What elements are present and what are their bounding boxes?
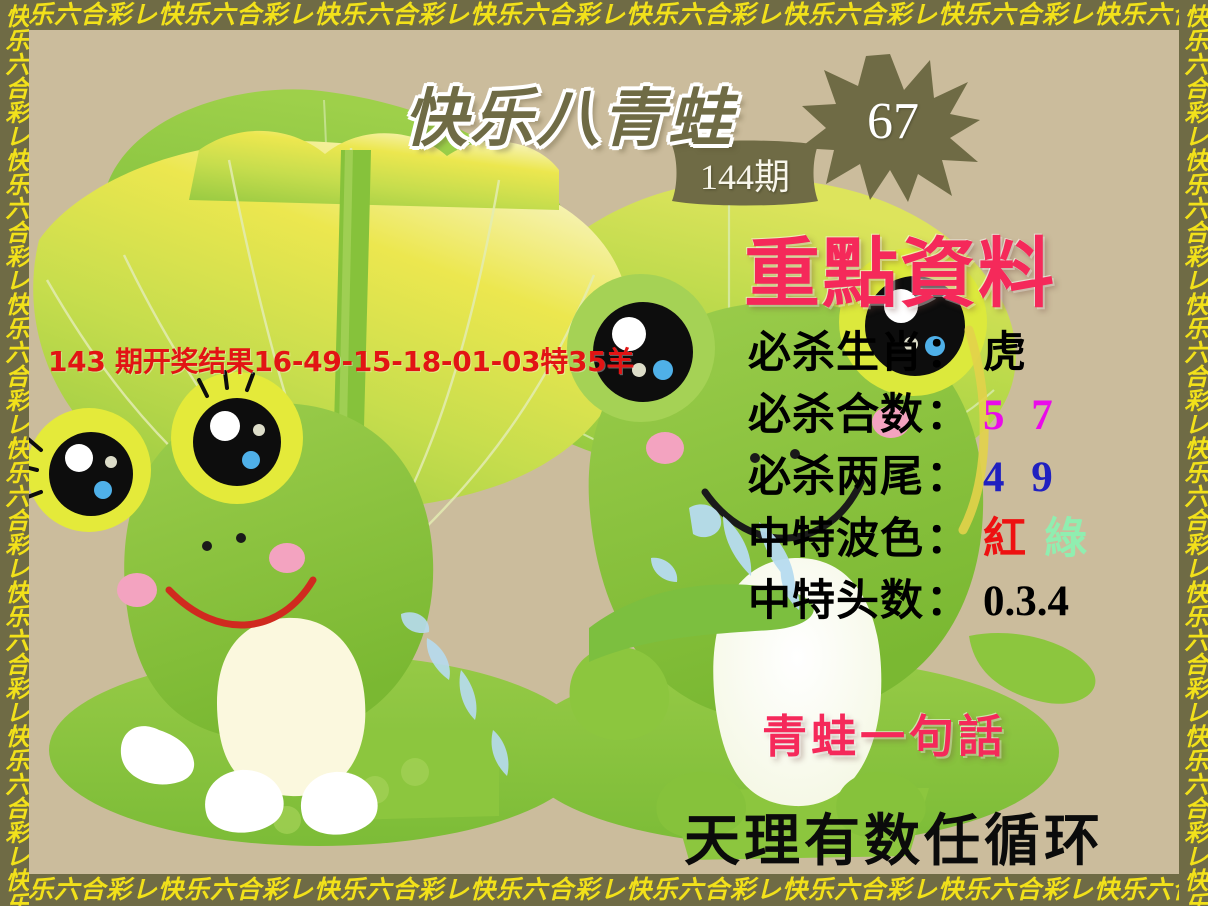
poster-canvas: 快乐六合彩レ快乐六合彩レ快乐六合彩レ快乐六合彩レ快乐六合彩レ快乐六合彩レ快乐六合… [0, 0, 1208, 906]
border-band-left: 快乐六合彩レ快乐六合彩レ快乐六合彩レ快乐六合彩レ快乐六合彩レ快乐六合彩レ快乐六合… [0, 0, 29, 906]
border-band-right: 快乐六合彩レ快乐六合彩レ快乐六合彩レ快乐六合彩レ快乐六合彩レ快乐六合彩レ快乐六合… [1179, 0, 1208, 906]
info-value-sum: 5 7 [983, 391, 1061, 440]
footer-heading: 青蛙一句話 [762, 700, 1007, 765]
info-colon-sum: ： [926, 380, 969, 442]
water-drops-left [401, 612, 508, 776]
badge-number: 67 [838, 92, 948, 151]
info-list: 必杀生肖 ： 虎 必杀合数 ： 5 7 必杀两尾 ： 4 9 中特波色 ： 紅 … [748, 318, 1087, 628]
frog-left [29, 372, 433, 835]
info-value-wave-green: 綠 [1044, 504, 1087, 566]
info-colon-wave: ： [926, 504, 969, 566]
info-row-head: 中特头数 ： 0.3.4 [748, 566, 1087, 628]
border-text-right: 快乐六合彩レ快乐六合彩レ快乐六合彩レ快乐六合彩レ快乐六合彩レ快乐六合彩レ快乐六合… [1180, 4, 1207, 906]
info-colon-head: ： [926, 566, 969, 628]
border-text-top: 快乐六合彩レ快乐六合彩レ快乐六合彩レ快乐六合彩レ快乐六合彩レ快乐六合彩レ快乐六合… [2, 2, 1208, 28]
info-row-wave: 中特波色 ： 紅 綠 [748, 504, 1087, 566]
info-value-wave-red: 紅 [983, 504, 1026, 566]
border-band-bottom: 快乐六合彩レ快乐六合彩レ快乐六合彩レ快乐六合彩レ快乐六合彩レ快乐六合彩レ快乐六合… [0, 874, 1208, 906]
info-label-tails: 必杀两尾 [748, 442, 924, 504]
draw-result-line: 143 期开奖结果16-49-15-18-01-03特35羊 [48, 340, 634, 380]
border-text-left: 快乐六合彩レ快乐六合彩レ快乐六合彩レ快乐六合彩レ快乐六合彩レ快乐六合彩レ快乐六合… [1, 4, 28, 906]
panel-heading: 重點資料 [744, 212, 1056, 322]
info-row-sum: 必杀合数 ： 5 7 [748, 380, 1087, 442]
info-value-head: 0.3.4 [983, 577, 1069, 626]
lotus-stem [329, 150, 371, 670]
border-text-bottom: 快乐六合彩レ快乐六合彩レ快乐六合彩レ快乐六合彩レ快乐六合彩レ快乐六合彩レ快乐六合… [2, 877, 1208, 903]
info-colon-zodiac: ： [926, 318, 969, 380]
info-label-head: 中特头数 [748, 566, 924, 628]
info-colon-tails: ： [926, 442, 969, 504]
info-value-tails: 4 9 [983, 453, 1061, 502]
page-title: 快乐八青蛙 [404, 68, 734, 159]
info-row-zodiac: 必杀生肖 ： 虎 [748, 318, 1087, 380]
info-label-wave: 中特波色 [748, 504, 924, 566]
info-value-zodiac: 虎 [983, 318, 1026, 380]
info-label-sum: 必杀合数 [748, 380, 924, 442]
footer-proverb: 天理有数任循环 [684, 796, 1104, 877]
info-label-zodiac: 必杀生肖 [748, 318, 924, 380]
info-row-tails: 必杀两尾 ： 4 9 [748, 442, 1087, 504]
border-band-top: 快乐六合彩レ快乐六合彩レ快乐六合彩レ快乐六合彩レ快乐六合彩レ快乐六合彩レ快乐六合… [0, 0, 1208, 30]
